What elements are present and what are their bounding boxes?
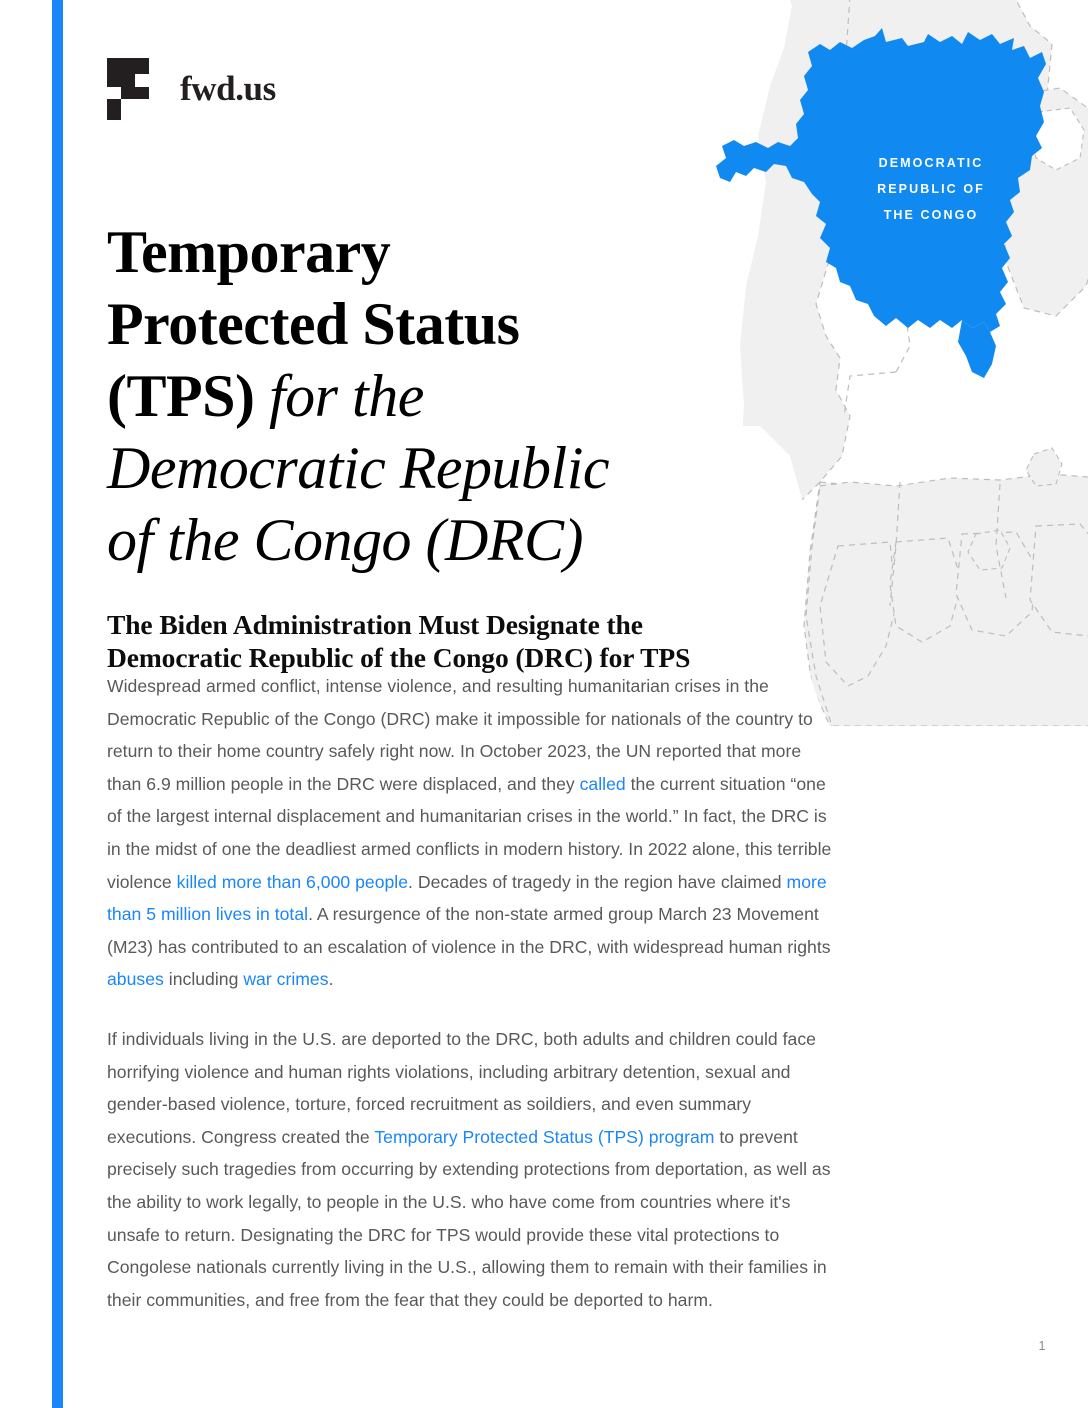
fwd-f-block-logo-icon xyxy=(107,58,163,120)
map-country-label: DEMOCRATIC REPUBLIC OF THE CONGO xyxy=(848,150,1014,228)
headline-line-1: Temporary xyxy=(107,219,390,285)
brand-wordmark: fwd.us xyxy=(180,69,276,109)
map-label-line-1: DEMOCRATIC xyxy=(848,150,1014,176)
body-link[interactable]: killed more than 6,000 people xyxy=(177,872,408,892)
headline-line-3-bold: (TPS) xyxy=(107,363,255,429)
body-link[interactable]: Temporary Protected Status (TPS) program xyxy=(374,1127,714,1147)
article-body: Widespread armed conflict, intense viole… xyxy=(107,670,835,1316)
subheading-line-2: Democratic Republic of the Congo (DRC) f… xyxy=(107,642,690,673)
page-number: 1 xyxy=(1030,1339,1054,1353)
body-link[interactable]: abuses xyxy=(107,969,164,989)
body-link[interactable]: called xyxy=(580,774,626,794)
body-link[interactable]: war crimes xyxy=(243,969,328,989)
paragraph-1: Widespread armed conflict, intense viole… xyxy=(107,670,835,996)
headline-line-4: Democratic Republic xyxy=(107,435,609,501)
left-accent-bar xyxy=(52,0,63,1408)
brand-logo[interactable]: fwd.us xyxy=(107,58,276,120)
headline-line-2: Protected Status xyxy=(107,291,519,357)
document-page: { "colors": { "accent_blue": "#1a86f7", … xyxy=(0,0,1088,1408)
page-title: Temporary Protected Status (TPS) for the… xyxy=(107,216,707,576)
section-subheading: The Biden Administration Must Designate … xyxy=(107,608,787,674)
map-label-line-2: REPUBLIC OF xyxy=(848,176,1014,202)
headline-line-3-italic: for the xyxy=(269,363,424,429)
paragraph-2: If individuals living in the U.S. are de… xyxy=(107,1023,835,1316)
headline-line-5: of the Congo (DRC) xyxy=(107,507,583,573)
subheading-line-1: The Biden Administration Must Designate … xyxy=(107,609,643,640)
map-label-line-3: THE CONGO xyxy=(848,202,1014,228)
